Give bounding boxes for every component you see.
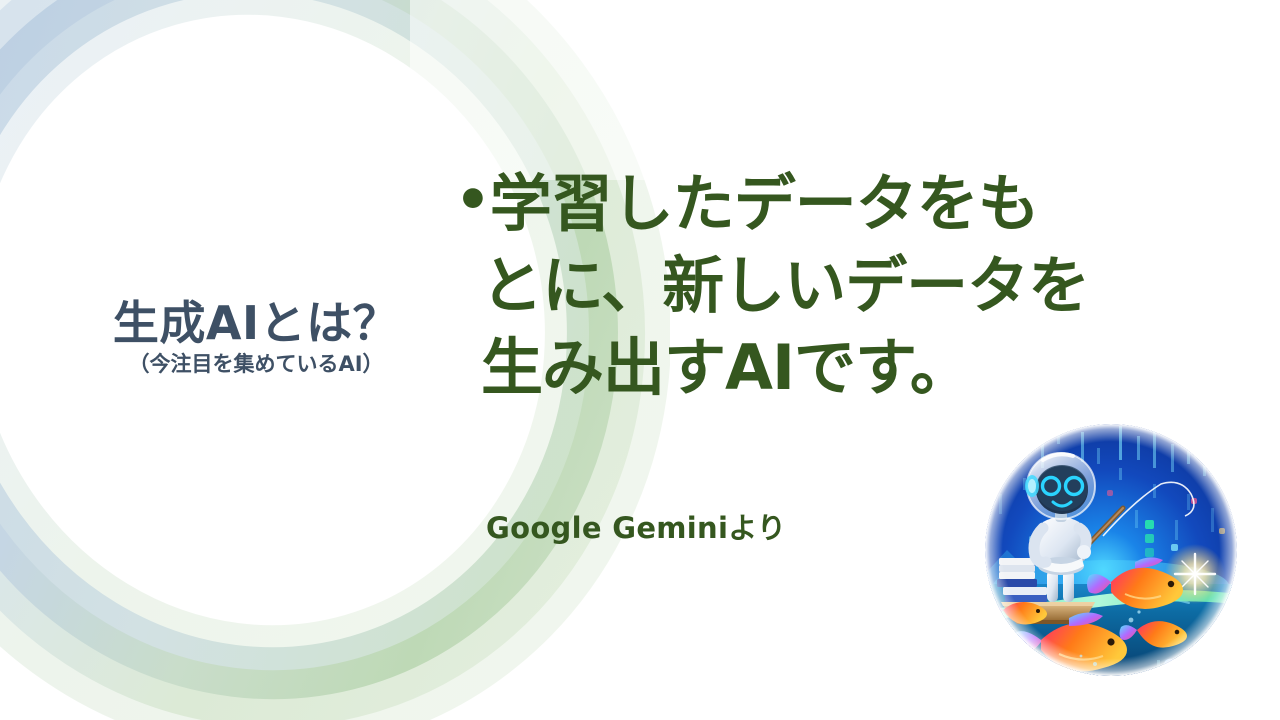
page-title: 生成AIとは？ xyxy=(56,300,456,346)
bullet-marker: • xyxy=(455,168,490,233)
page-subtitle: （今注目を集めているAI） xyxy=(56,354,456,375)
attribution-text: Google Geminiより xyxy=(486,505,786,547)
slide-canvas: 生成AIとは？ （今注目を集めているAI） •学習したデータをも とに、新しいデ… xyxy=(0,0,1280,720)
title-block: 生成AIとは？ （今注目を集めているAI） xyxy=(56,300,456,375)
ai-robot-fishing-image xyxy=(985,424,1237,676)
body-line-1: •学習したデータをも xyxy=(455,160,1255,245)
body-line-2: とに、新しいデータを xyxy=(455,245,1255,327)
body-line-1-text: 学習したデータをも xyxy=(490,167,1039,240)
body-line-3: 生み出すAIです。 xyxy=(455,327,1255,409)
body-text-block: •学習したデータをも とに、新しいデータを 生み出すAIです。 xyxy=(455,160,1255,409)
